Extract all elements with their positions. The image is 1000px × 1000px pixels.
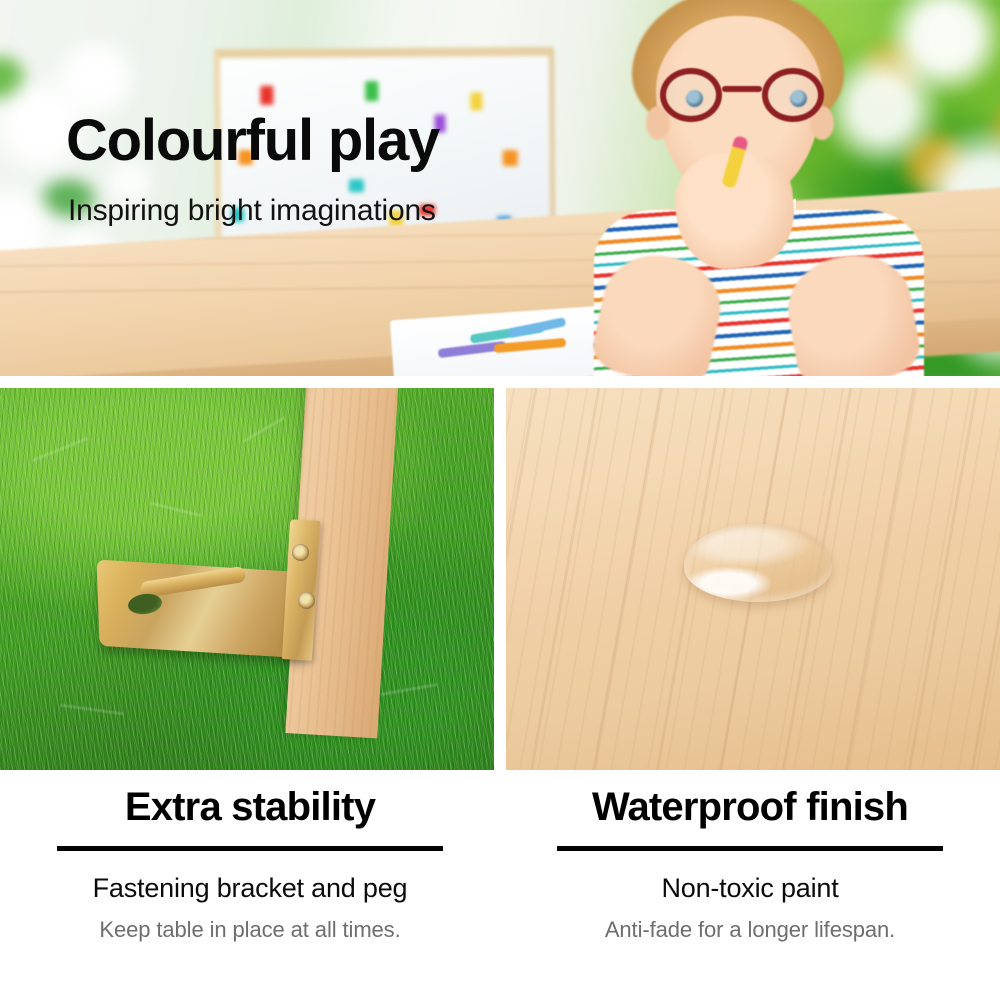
infographic-page: Colourful play Inspiring bright imaginat… bbox=[0, 0, 1000, 1000]
screw-top bbox=[292, 544, 309, 561]
caption-divider bbox=[557, 846, 943, 851]
eye-left bbox=[686, 90, 703, 107]
caption-block-waterproof: Waterproof finish Non-toxic paint Anti-f… bbox=[500, 786, 1000, 943]
screw-bottom bbox=[298, 592, 315, 609]
water-droplet bbox=[684, 524, 832, 602]
caption-note: Keep table in place at all times. bbox=[0, 917, 500, 943]
caption-title: Waterproof finish bbox=[500, 786, 1000, 828]
hero-subtitle: Inspiring bright imaginations bbox=[68, 194, 436, 228]
hero-title: Colourful play bbox=[66, 112, 439, 170]
hero-photo: Colourful play Inspiring bright imaginat… bbox=[0, 0, 1000, 376]
caption-note: Anti-fade for a longer lifespan. bbox=[500, 917, 1000, 943]
caption-divider bbox=[57, 846, 443, 851]
bracket-on-grass-photo bbox=[0, 388, 494, 770]
red-glasses-icon bbox=[656, 68, 828, 122]
lens-right bbox=[762, 68, 824, 122]
glasses-bridge bbox=[722, 86, 762, 92]
caption-subtitle: Fastening bracket and peg bbox=[0, 873, 500, 904]
eye-right bbox=[790, 90, 807, 107]
child-with-glasses bbox=[560, 0, 960, 376]
lens-left bbox=[660, 68, 722, 122]
caption-subtitle: Non-toxic paint bbox=[500, 873, 1000, 904]
caption-title: Extra stability bbox=[0, 786, 500, 828]
water-drop-on-wood-photo bbox=[506, 388, 1000, 770]
caption-block-stability: Extra stability Fastening bracket and pe… bbox=[0, 786, 500, 943]
